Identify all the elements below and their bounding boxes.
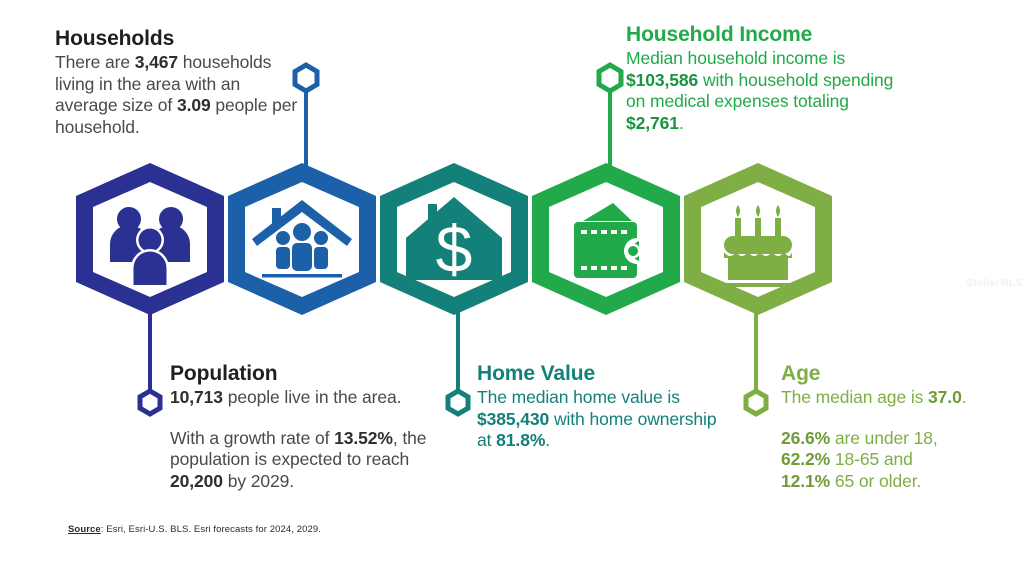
- age-body-2: 26.6% are under 18,62.2% 18-65 and12.1% …: [781, 428, 1011, 493]
- svg-text:$: $: [436, 212, 473, 286]
- population-title: Population: [170, 361, 440, 386]
- population-body-1: 10,713 people live in the area.: [170, 387, 440, 409]
- projected-population: 20,200: [170, 471, 223, 491]
- population-body-2: With a growth rate of 13.52%, the popula…: [170, 428, 440, 493]
- age-65-plus-pct: 12.1%: [781, 471, 830, 491]
- households-text-block: Households There are 3,467 households li…: [55, 26, 305, 138]
- age-body-1: The median age is 37.0.: [781, 387, 1011, 409]
- medical-spending: $2,761: [626, 113, 679, 133]
- median-home-value: $385,430: [477, 409, 549, 429]
- households-title: Households: [55, 26, 305, 51]
- home-value-title: Home Value: [477, 361, 722, 386]
- households-body: There are 3,467 households living in the…: [55, 52, 305, 138]
- household-income-body: Median household income is $103,586 with…: [626, 48, 901, 134]
- median-household-income: $103,586: [626, 70, 698, 90]
- watermark: StellarMLS: [966, 278, 1023, 289]
- source-label: Source: [68, 524, 101, 535]
- growth-rate: 13.52%: [334, 428, 393, 448]
- households-avg-size: 3.09: [177, 95, 211, 115]
- age-18-65-pct: 62.2%: [781, 449, 830, 469]
- median-age: 37.0: [928, 387, 962, 407]
- household-income-text-block: Household Income Median household income…: [626, 22, 901, 134]
- age-title: Age: [781, 361, 1011, 386]
- home-value-body: The median home value is $385,430 with h…: [477, 387, 722, 452]
- population-hexagon[interactable]: [228, 163, 376, 315]
- home-value-text-block: Home Value The median home value is $385…: [477, 361, 722, 452]
- source-note: Source: Esri, Esri-U.S. BLS. Esri foreca…: [68, 524, 321, 535]
- households-hexagon[interactable]: [76, 163, 224, 315]
- population-count: 10,713: [170, 387, 223, 407]
- infographic-canvas: $: [0, 0, 1024, 568]
- home-ownership-rate: 81.8%: [496, 430, 545, 450]
- population-text-block: Population 10,713 people live in the are…: [170, 361, 440, 492]
- household-income-title: Household Income: [626, 22, 901, 47]
- age-text-block: Age The median age is 37.0. 26.6% are un…: [781, 361, 1011, 492]
- home-value-hexagon[interactable]: $: [380, 163, 528, 315]
- households-count: 3,467: [135, 52, 178, 72]
- household-income-hexagon[interactable]: [532, 163, 680, 315]
- source-text: : Esri, Esri-U.S. BLS. Esri forecasts fo…: [101, 524, 321, 535]
- age-under-18-pct: 26.6%: [781, 428, 830, 448]
- age-hexagon[interactable]: [684, 163, 832, 315]
